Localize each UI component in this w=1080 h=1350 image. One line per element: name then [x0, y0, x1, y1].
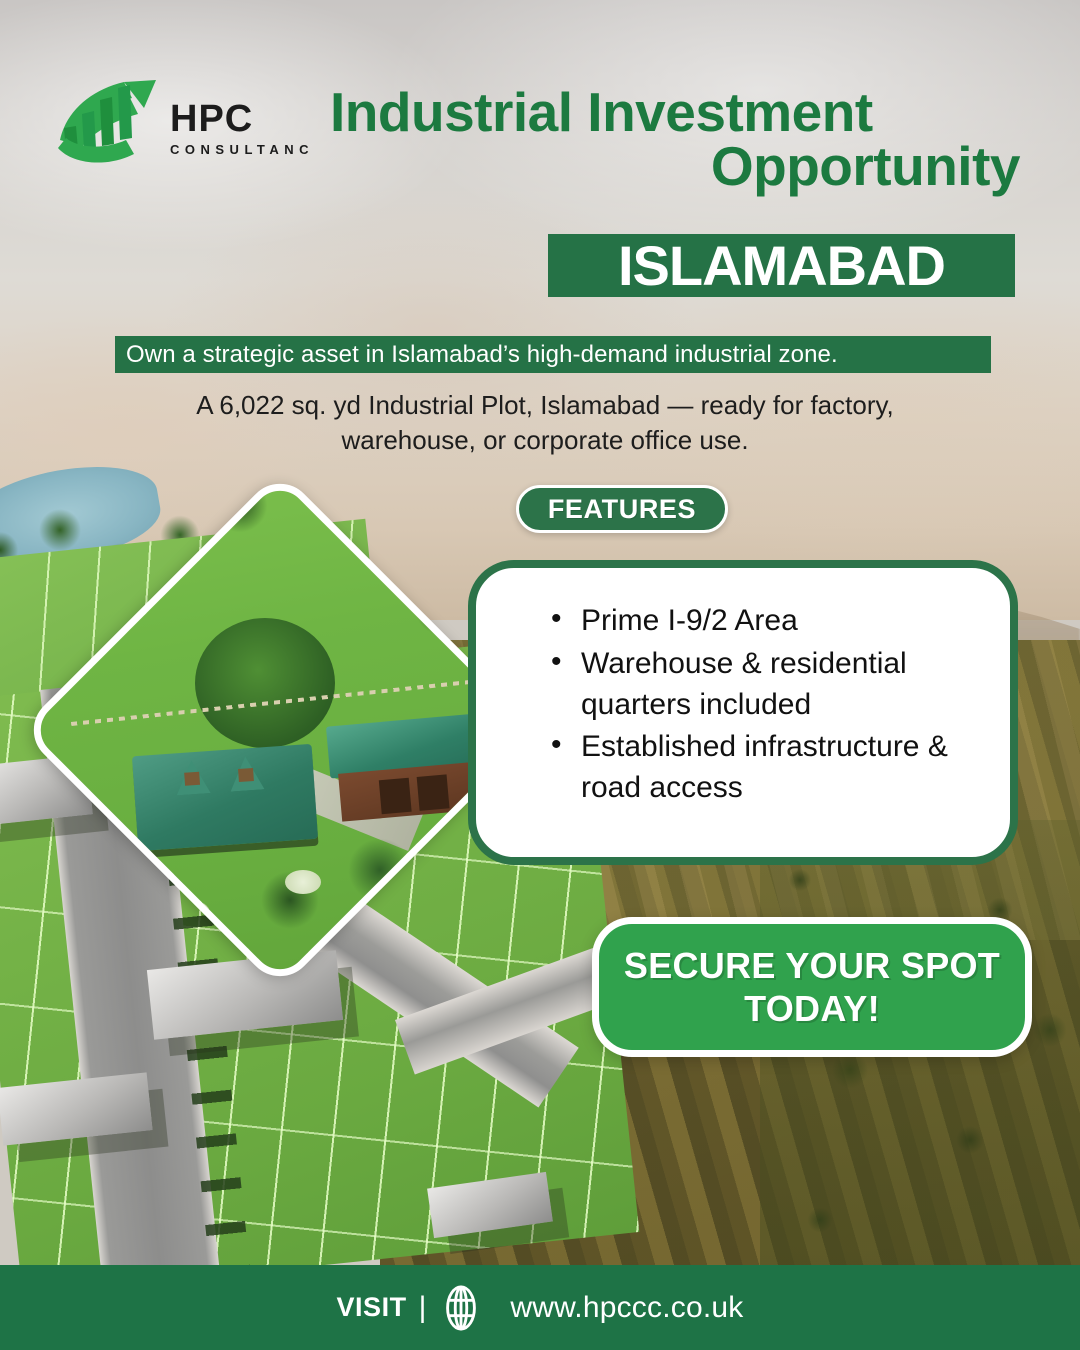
visit-label: VISIT	[337, 1292, 407, 1323]
list-item: Warehouse & residential quarters include…	[551, 644, 981, 726]
photo-dormer-window	[184, 772, 200, 786]
footer-divider: |	[419, 1291, 427, 1325]
brand-logo-text: HPC CONSULTANC	[170, 100, 314, 157]
headline-line-2: Opportunity	[330, 140, 1020, 194]
features-badge-label: FEATURES	[548, 494, 696, 525]
headline: Industrial Investment Opportunity	[330, 86, 1020, 194]
lede-paragraph: A 6,022 sq. yd Industrial Plot, Islamaba…	[150, 388, 940, 458]
headline-line-1: Industrial Investment	[330, 86, 1020, 140]
photo-treeline-bottom	[230, 830, 480, 990]
property-photo-frame	[20, 470, 540, 990]
cta-button[interactable]: SECURE YOUR SPOT TODAY!	[592, 917, 1032, 1057]
tagline-text: Own a strategic asset in Islamabad’s hig…	[115, 341, 838, 369]
website-url[interactable]: www.hpccc.co.uk	[510, 1291, 743, 1325]
diamond-photo	[20, 470, 540, 990]
photo-barn-bay	[417, 774, 450, 810]
photo-bush	[285, 870, 321, 894]
bar-chart-arrow-icon	[52, 78, 162, 173]
photo-large-tree	[195, 618, 335, 748]
features-badge: FEATURES	[516, 485, 728, 533]
aerial-property-photo	[20, 470, 540, 990]
brand-subtitle: CONSULTANC	[170, 142, 314, 157]
photo-barn	[326, 714, 484, 827]
tagline-bar: Own a strategic asset in Islamabad’s hig…	[115, 336, 991, 373]
city-banner: ISLAMABAD	[548, 234, 1015, 297]
brand-name: HPC	[170, 100, 314, 138]
brand-logo[interactable]: HPC CONSULTANC	[52, 78, 322, 178]
photo-bush	[170, 900, 210, 926]
list-item: Prime I-9/2 Area	[551, 601, 981, 642]
globe-icon	[438, 1285, 484, 1331]
city-name: ISLAMABAD	[618, 238, 945, 294]
list-item: Established infrastructure & road access	[551, 727, 981, 809]
page-title: Industrial Investment Opportunity	[330, 86, 1020, 194]
photo-treeline-top	[20, 470, 540, 600]
cta-label: SECURE YOUR SPOT TODAY!	[599, 944, 1025, 1030]
footer-bar: VISIT | www.hpccc.co.uk	[0, 1265, 1080, 1350]
features-list: Prime I-9/2 Area Warehouse & residential…	[551, 601, 981, 809]
photo-barn-bay	[379, 778, 412, 814]
photo-dormer-window	[238, 768, 254, 782]
features-card: Prime I-9/2 Area Warehouse & residential…	[468, 560, 1018, 865]
